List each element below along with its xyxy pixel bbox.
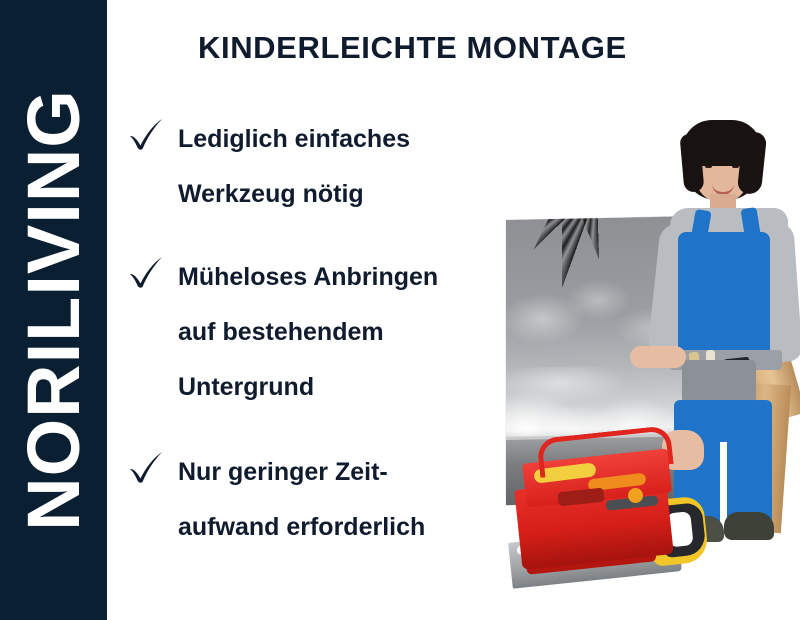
list-item-text: Nur geringer Zeit- aufwand erforderlich	[178, 445, 506, 555]
list-item-line: Untergrund	[178, 360, 506, 415]
hair-front	[682, 120, 762, 166]
brand-name: NORILIVING	[17, 89, 91, 531]
list-item-text: Müheloses Anbringen auf bestehendem Unte…	[178, 250, 506, 415]
list-item-line: Lediglich einfaches	[178, 112, 506, 167]
list-item: Müheloses Anbringen auf bestehendem Unte…	[126, 250, 506, 415]
check-icon	[126, 116, 166, 154]
brand-bar: NORILIVING	[0, 0, 107, 620]
tool-knob	[628, 488, 643, 503]
toolbox-group	[510, 426, 720, 616]
benefits-list: Lediglich einfaches Werkzeug nötig Mühel…	[126, 112, 506, 555]
list-item-line: Werkzeug nötig	[178, 167, 506, 222]
list-item: Nur geringer Zeit- aufwand erforderlich	[126, 445, 506, 555]
shoe-right	[724, 512, 774, 540]
poster-root: NORILIVING KINDERLEICHTE MONTAGE Ledigli…	[0, 0, 800, 620]
list-item-line: aufwand erforderlich	[178, 500, 506, 555]
page-title: KINDERLEICHTE MONTAGE	[198, 30, 627, 66]
list-item-line: Nur geringer Zeit-	[178, 445, 506, 500]
product-photo	[498, 112, 800, 620]
list-item-line: auf bestehendem	[178, 305, 506, 360]
overall-bib	[678, 232, 770, 360]
list-item: Lediglich einfaches Werkzeug nötig	[126, 112, 506, 222]
hand-upper	[630, 346, 686, 368]
list-item-line: Müheloses Anbringen	[178, 250, 506, 305]
check-icon	[126, 254, 166, 292]
list-item-text: Lediglich einfaches Werkzeug nötig	[178, 112, 506, 222]
check-icon	[126, 449, 166, 487]
